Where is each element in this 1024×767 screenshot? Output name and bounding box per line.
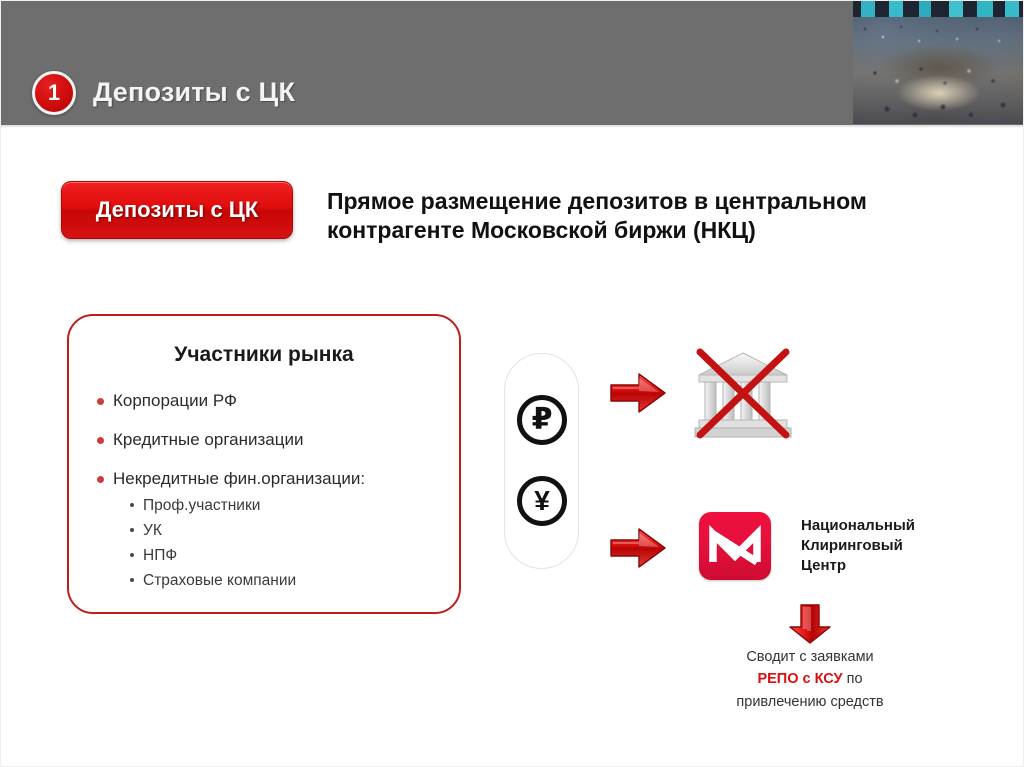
list-item-label: Некредитные фин.организации: (113, 469, 365, 488)
list-item: Корпорации РФ (113, 391, 459, 411)
headline-line-1: Прямое размещение депозитов в центрально… (327, 187, 947, 216)
trading-floor-photo (853, 1, 1024, 124)
sub-bullet-icon (130, 528, 134, 532)
sub-bullet-icon (130, 578, 134, 582)
caption-line-2-tail: по (843, 671, 863, 687)
nkc-logo-icon (699, 512, 771, 580)
bank-building-icon (693, 347, 793, 443)
sub-list-item: Проф.участники (143, 497, 459, 515)
currency-capsule: ₽ ¥ (504, 353, 579, 569)
sub-list-item: УК (143, 522, 459, 540)
cross-out-icon (693, 347, 793, 443)
header-band-shadow (1, 125, 1024, 128)
participants-sub-list: Проф.участники УК НПФ Страховые компании (113, 497, 459, 590)
sub-list-item-label: Страховые компании (143, 572, 296, 589)
ruble-coin-icon: ₽ (517, 395, 567, 445)
sub-list-item: Страховые компании (143, 572, 459, 590)
nkc-name-line-1: Национальный (801, 516, 981, 536)
photo-crowd-layer (853, 11, 1024, 124)
bullet-icon (97, 476, 104, 483)
list-item: Некредитные фин.организации: Проф.участн… (113, 469, 459, 590)
slide-number-badge: 1 (32, 71, 76, 115)
flow-caption: Сводит с заявками РЕПО с КСУ по привлече… (694, 646, 926, 713)
headline-line-2: контрагенте Московской биржи (НКЦ) (327, 216, 947, 245)
sub-bullet-icon (130, 503, 134, 507)
yen-coin-icon: ¥ (517, 476, 567, 526)
caption-line-3: привлечению средств (694, 691, 926, 713)
market-participants-box: Участники рынка Корпорации РФ Кредитные … (67, 314, 461, 614)
list-item-label: Корпорации РФ (113, 391, 237, 410)
participants-title: Участники рынка (69, 343, 459, 367)
headline: Прямое размещение депозитов в центрально… (327, 187, 947, 246)
arrow-down-icon (787, 603, 833, 645)
nkc-name-line-2: Клиринговый (801, 536, 981, 556)
slide: 1 Депозиты с ЦК Депозиты с ЦК Прямое раз… (0, 0, 1024, 767)
caption-line-1: Сводит с заявками (694, 646, 926, 668)
sub-bullet-icon (130, 553, 134, 557)
caption-highlight: РЕПО с КСУ (757, 671, 842, 687)
list-item-label: Кредитные организации (113, 430, 303, 449)
nkc-name: Национальный Клиринговый Центр (801, 516, 981, 575)
sub-list-item: НПФ (143, 547, 459, 565)
bullet-icon (97, 437, 104, 444)
arrow-right-icon (609, 371, 667, 415)
caption-line-2: РЕПО с КСУ по (694, 668, 926, 690)
sub-list-item-label: Проф.участники (143, 497, 260, 514)
sub-list-item-label: УК (143, 522, 162, 539)
participants-list: Корпорации РФ Кредитные организации Некр… (69, 391, 459, 590)
bullet-icon (97, 398, 104, 405)
nkc-name-line-3: Центр (801, 556, 981, 576)
deposits-ccp-button[interactable]: Депозиты с ЦК (61, 181, 293, 239)
sub-list-item-label: НПФ (143, 547, 177, 564)
arrow-right-icon (609, 526, 667, 570)
list-item: Кредитные организации (113, 430, 459, 450)
page-title: Депозиты с ЦК (93, 77, 295, 108)
